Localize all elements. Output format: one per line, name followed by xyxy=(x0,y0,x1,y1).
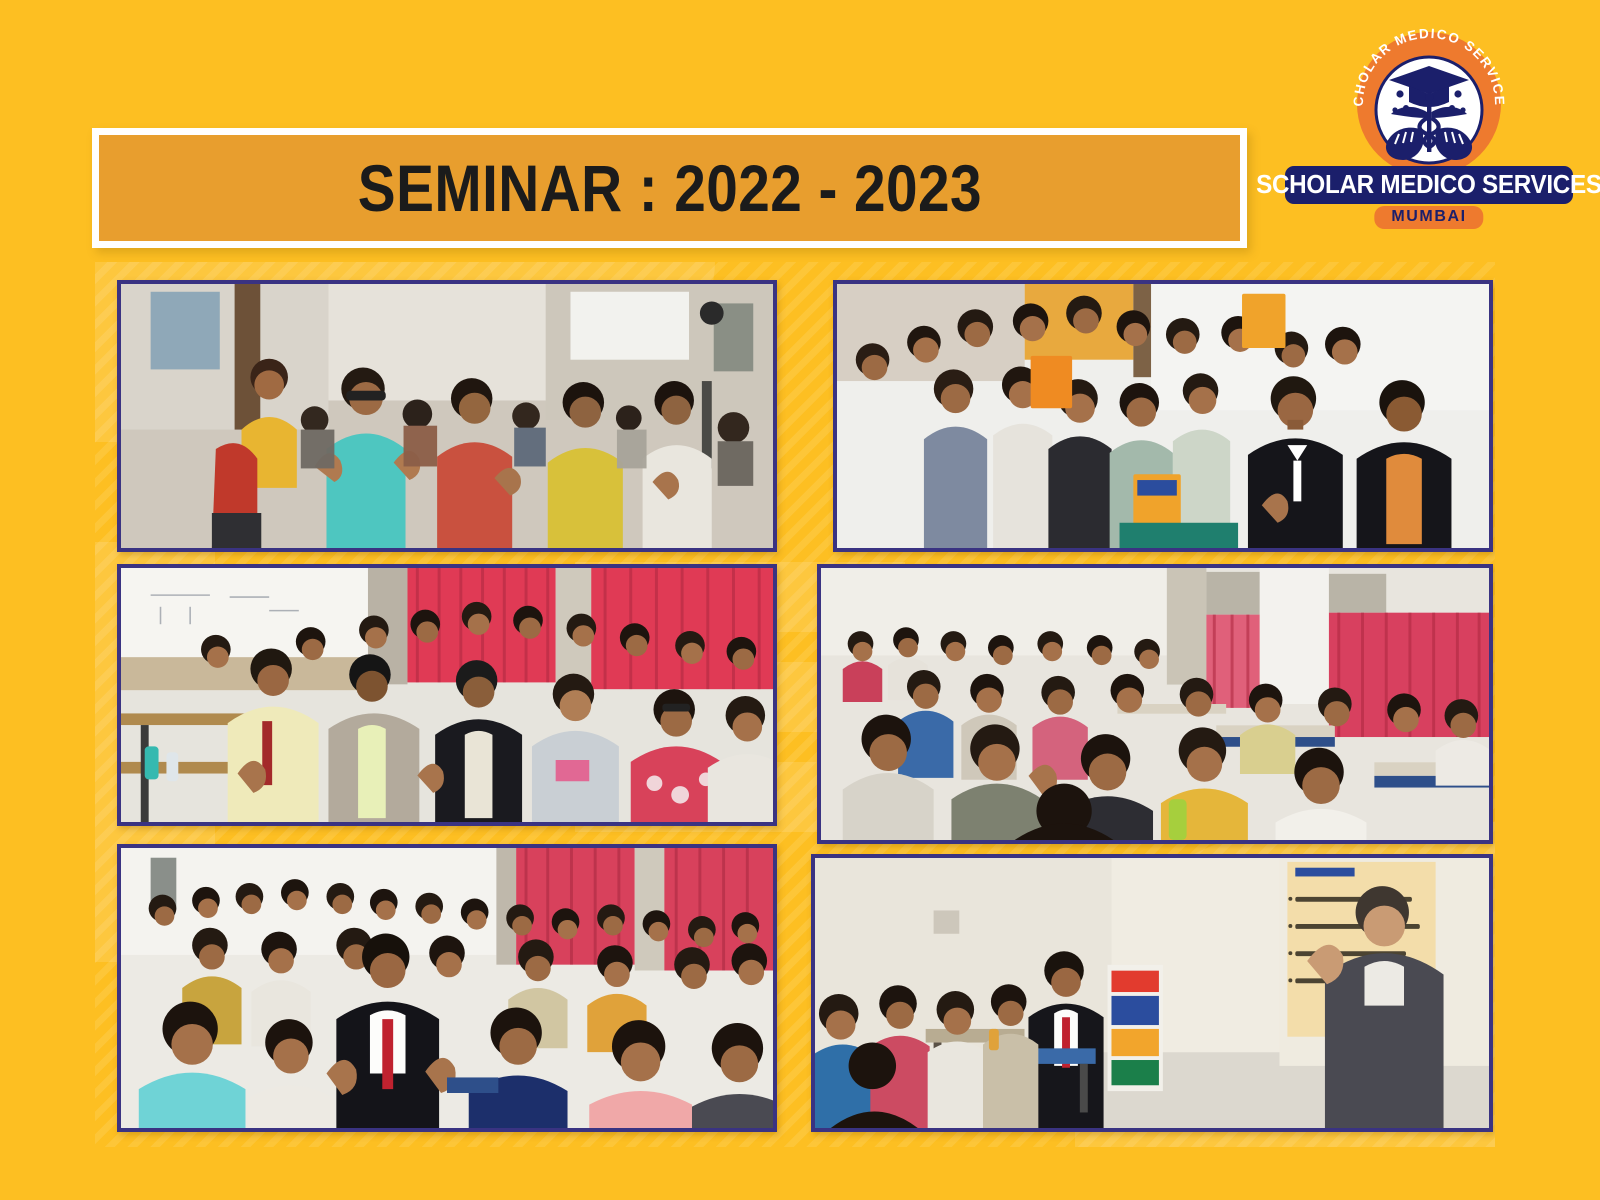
gallery-panel xyxy=(95,262,1495,1147)
gallery-photo-2[interactable] xyxy=(833,280,1493,552)
gallery-photo-5[interactable] xyxy=(117,844,777,1132)
photo-1-scene xyxy=(121,284,773,548)
logo-emblem-icon: SCHOLAR MEDICO SERVICES xyxy=(1343,18,1515,170)
photo-4-scene xyxy=(821,568,1489,840)
logo-wordmark-text: SCHOLAR MEDICO SERVICES xyxy=(1256,171,1600,200)
title-banner: SEMINAR : 2022 - 2023 xyxy=(92,128,1247,248)
logo-wordmark: SCHOLAR MEDICO SERVICES xyxy=(1285,166,1573,204)
logo-city-pill: MUMBAI xyxy=(1374,206,1483,229)
gallery-photo-4[interactable] xyxy=(817,564,1493,844)
photo-6-scene xyxy=(815,858,1489,1128)
gallery-photo-1[interactable] xyxy=(117,280,777,552)
logo-city-text: MUMBAI xyxy=(1391,208,1466,225)
gallery-photo-6[interactable] xyxy=(811,854,1493,1132)
gallery-photo-3[interactable] xyxy=(117,564,777,826)
photo-5-scene xyxy=(121,848,773,1128)
brand-logo: SCHOLAR MEDICO SERVICES xyxy=(1285,18,1573,223)
title-banner-inner: SEMINAR : 2022 - 2023 xyxy=(99,135,1240,241)
page-title: SEMINAR : 2022 - 2023 xyxy=(357,150,981,226)
photo-3-scene xyxy=(121,568,773,822)
photo-2-scene xyxy=(837,284,1489,548)
